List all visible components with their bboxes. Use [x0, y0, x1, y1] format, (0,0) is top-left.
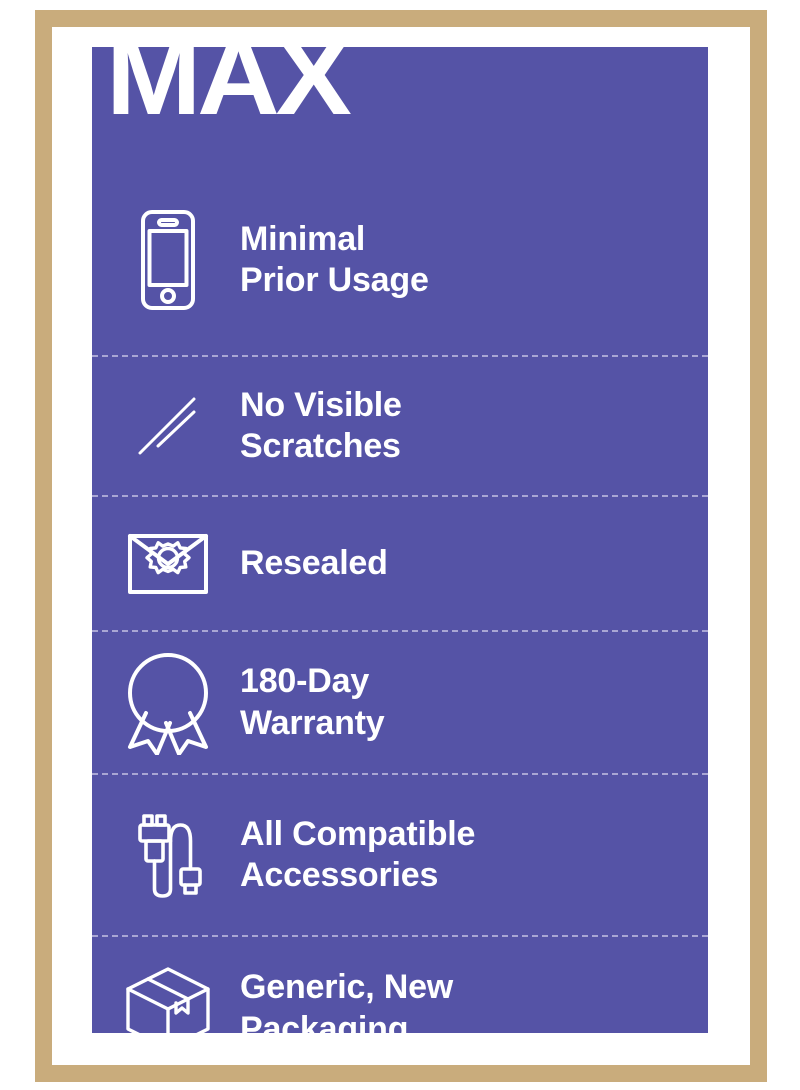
feature-row-no-visible-scratches: No Visible Scratches [92, 355, 708, 495]
feature-row-generic-new-packaging: Generic, New Packaging [92, 935, 708, 1033]
feature-row-minimal-prior-usage: Minimal Prior Usage [92, 165, 708, 355]
usb-cable-icon [98, 811, 238, 899]
brand-wordmark: MAX [106, 47, 348, 131]
feature-label: Generic, New Packaging [238, 967, 708, 1033]
smartphone-icon [98, 209, 238, 311]
feature-row-180-day-warranty: 180-Day Warranty [92, 630, 708, 773]
feature-label: Resealed [238, 543, 708, 584]
feature-row-all-compatible-accessories: All Compatible Accessories [92, 773, 708, 935]
award-ribbon-icon [98, 651, 238, 755]
feature-label: Minimal Prior Usage [238, 219, 708, 302]
feature-row-resealed: Resealed [92, 495, 708, 630]
purple-content-panel: MAX Minimal Prior Usage [92, 47, 708, 1033]
shipping-box-icon [98, 965, 238, 1034]
condition-grade-poster: MAX Minimal Prior Usage [0, 0, 800, 1090]
feature-list: Minimal Prior Usage No Visible Scratches [92, 165, 708, 1033]
scratches-icon [98, 390, 238, 462]
feature-label: All Compatible Accessories [238, 814, 708, 897]
feature-label: 180-Day Warranty [238, 661, 708, 744]
sealed-envelope-icon [98, 533, 238, 595]
feature-label: No Visible Scratches [238, 385, 708, 468]
